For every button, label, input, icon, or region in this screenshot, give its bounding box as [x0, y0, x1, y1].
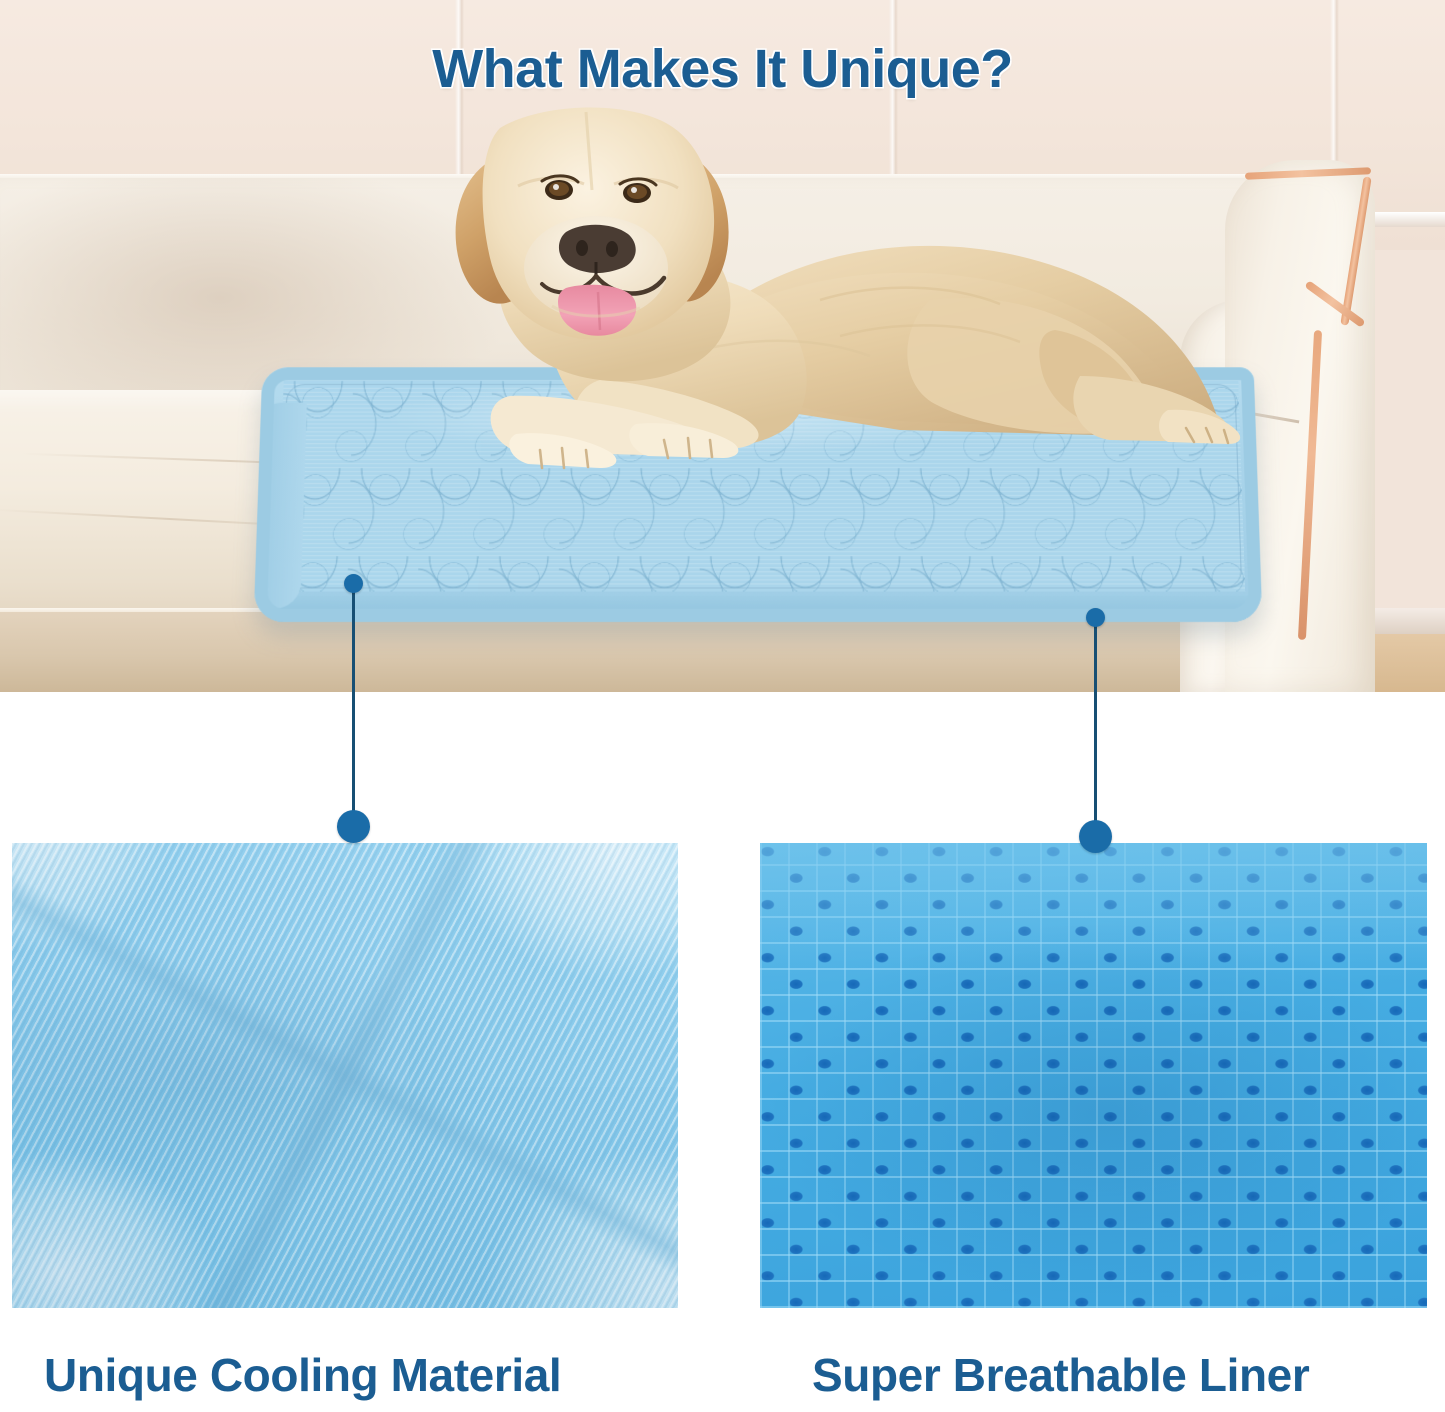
- connector-left: [344, 574, 378, 842]
- hero-photo: [0, 0, 1445, 692]
- connector-line: [1094, 617, 1097, 839]
- dog-illustration: [0, 0, 1445, 692]
- caption-breathable-liner: Super Breathable Liner: [812, 1348, 1309, 1402]
- connector-line: [352, 583, 355, 833]
- detail-photo-breathable-liner: [760, 843, 1427, 1308]
- connector-dot-bottom: [1079, 820, 1112, 853]
- page-title: What Makes It Unique?: [0, 38, 1445, 100]
- connector-right: [1086, 608, 1120, 856]
- quilt-shading: [12, 843, 678, 1308]
- connector-dot-top: [1086, 608, 1105, 627]
- connector-dot-bottom: [337, 810, 370, 843]
- mesh-shading: [760, 843, 1427, 1308]
- caption-cooling-material: Unique Cooling Material: [44, 1348, 561, 1402]
- connector-dot-top: [344, 574, 363, 593]
- detail-photo-cooling-material: [12, 843, 678, 1308]
